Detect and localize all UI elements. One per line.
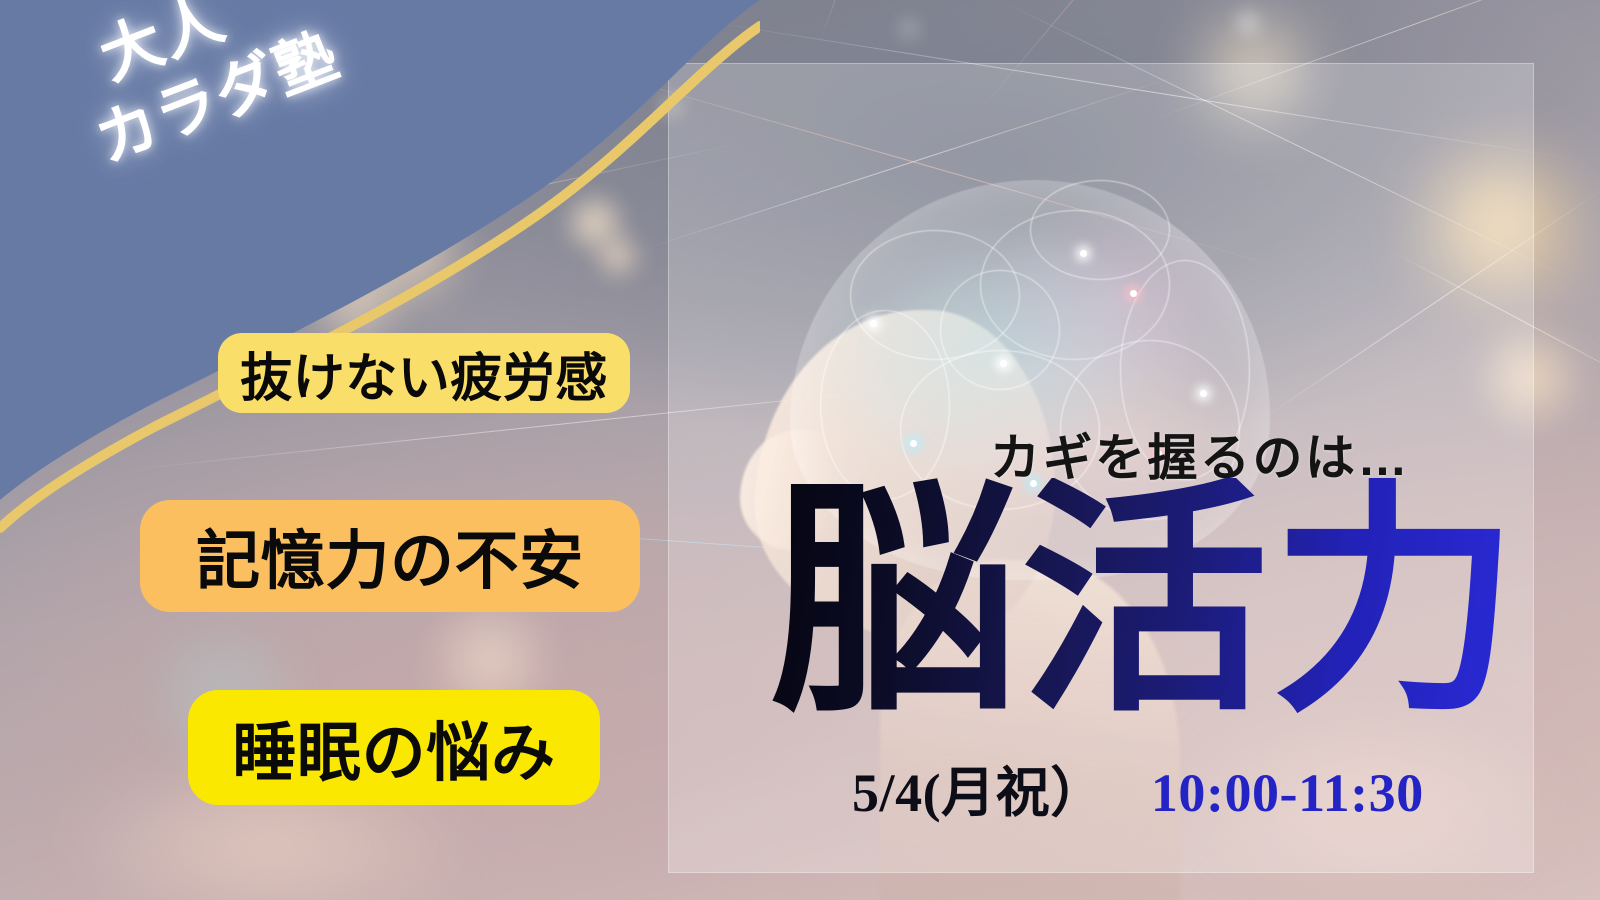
- poster-canvas: 大人 カラダ塾 抜けない疲労感 記憶力の不安 睡眠の悩み カギを握るのは… 脳活…: [0, 0, 1600, 900]
- pain-point-badge-fatigue: 抜けない疲労感: [218, 333, 630, 413]
- page-title: 脳活力: [770, 478, 1521, 731]
- event-time: 10:00-11:30: [1151, 763, 1424, 823]
- event-date: 5/4(月祝）: [852, 763, 1105, 823]
- blue-panel: [0, 0, 760, 500]
- badge-label: 抜けない疲労感: [240, 336, 608, 411]
- pain-point-badge-memory: 記憶力の不安: [140, 500, 640, 612]
- badge-label: 睡眠の悩み: [232, 702, 555, 794]
- badge-label: 記憶力の不安: [196, 510, 584, 602]
- event-datetime: 5/4(月祝） 10:00-11:30: [852, 748, 1424, 827]
- pain-point-badge-sleep: 睡眠の悩み: [188, 690, 600, 805]
